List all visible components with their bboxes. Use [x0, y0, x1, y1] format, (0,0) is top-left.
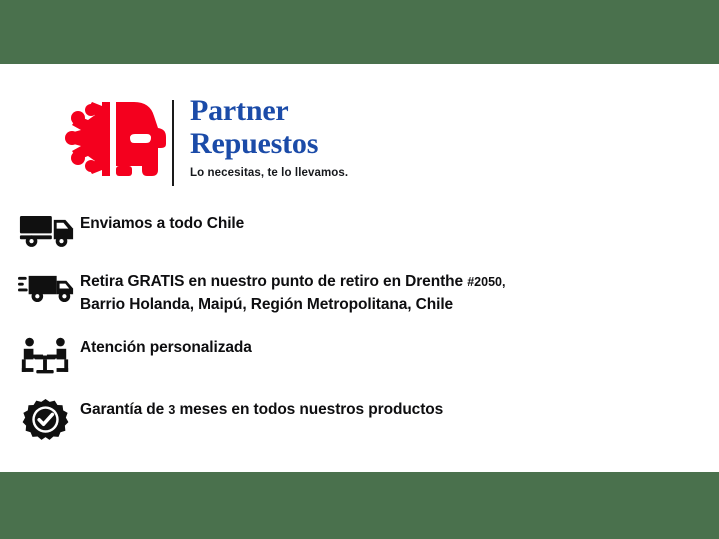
feature-text-pickup-line-2: Barrio Holanda, Maipú, Región Metropolit… [80, 294, 505, 316]
warranty-text-before: Garantía de [80, 401, 168, 418]
guarantee-seal-check-icon [18, 398, 80, 443]
feature-item-shipping: Enviamos a todo Chile [18, 212, 708, 249]
warranty-text-after: meses en todos nuestros productos [175, 401, 443, 418]
people-at-table-icon [18, 336, 80, 377]
brand-header: Partner Repuestos Lo necesitas, te lo ll… [0, 86, 719, 196]
brand-tagline: Lo necesitas, te lo llevamos. [190, 167, 610, 179]
feature-text-support: Atención personalizada [80, 336, 252, 358]
pickup-address-number: #2050, [467, 275, 505, 289]
feature-item-support: Atención personalizada [18, 336, 708, 377]
feature-item-pickup: Retira GRATIS en nuestro punto de retiro… [18, 270, 708, 315]
feature-text-pickup: Retira GRATIS en nuestro punto de retiro… [80, 270, 505, 315]
moving-truck-icon [18, 270, 80, 307]
brand-text: Partner Repuestos Lo necesitas, te lo ll… [190, 94, 610, 179]
bottom-green-band [0, 472, 719, 539]
top-green-band [0, 0, 719, 64]
delivery-truck-icon [18, 212, 80, 249]
logo-divider [172, 100, 174, 186]
feature-text-warranty: Garantía de 3 meses en todos nuestros pr… [80, 398, 443, 421]
pickup-address-main: Retira GRATIS en nuestro punto de retiro… [80, 273, 467, 290]
brand-name-line-1: Partner [190, 94, 610, 127]
feature-text-pickup-line-1: Retira GRATIS en nuestro punto de retiro… [80, 271, 505, 294]
feature-text-shipping: Enviamos a todo Chile [80, 212, 244, 234]
promo-banner: Partner Repuestos Lo necesitas, te lo ll… [0, 0, 719, 539]
gear-car-logo-icon [58, 98, 168, 180]
feature-item-warranty: Garantía de 3 meses en todos nuestros pr… [18, 398, 708, 443]
brand-name-line-2: Repuestos [190, 127, 610, 160]
